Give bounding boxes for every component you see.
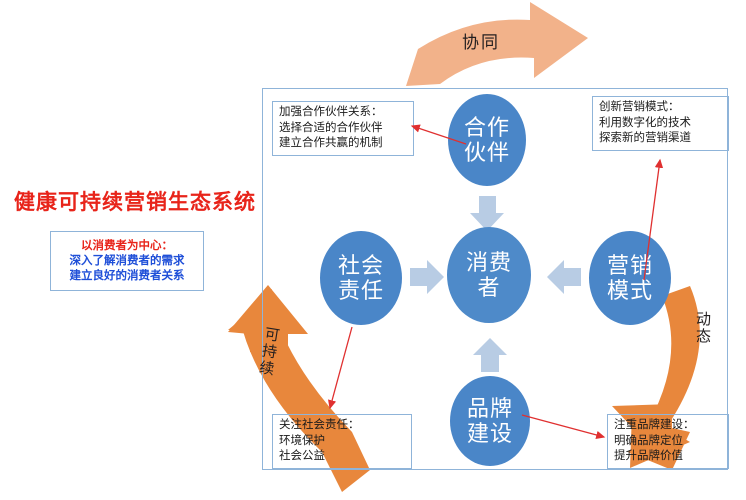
- red-pointer-partner: [412, 126, 466, 144]
- diagram-canvas: 健康可持续营销生态系统 以消费者为中心： 深入了解消费者的需求 建立良好的消费者…: [0, 0, 746, 500]
- red-pointer-brand: [522, 415, 604, 437]
- red-pointer-marketing: [644, 160, 660, 280]
- red-pointer-layer: [0, 0, 746, 500]
- red-pointer-social: [330, 327, 352, 408]
